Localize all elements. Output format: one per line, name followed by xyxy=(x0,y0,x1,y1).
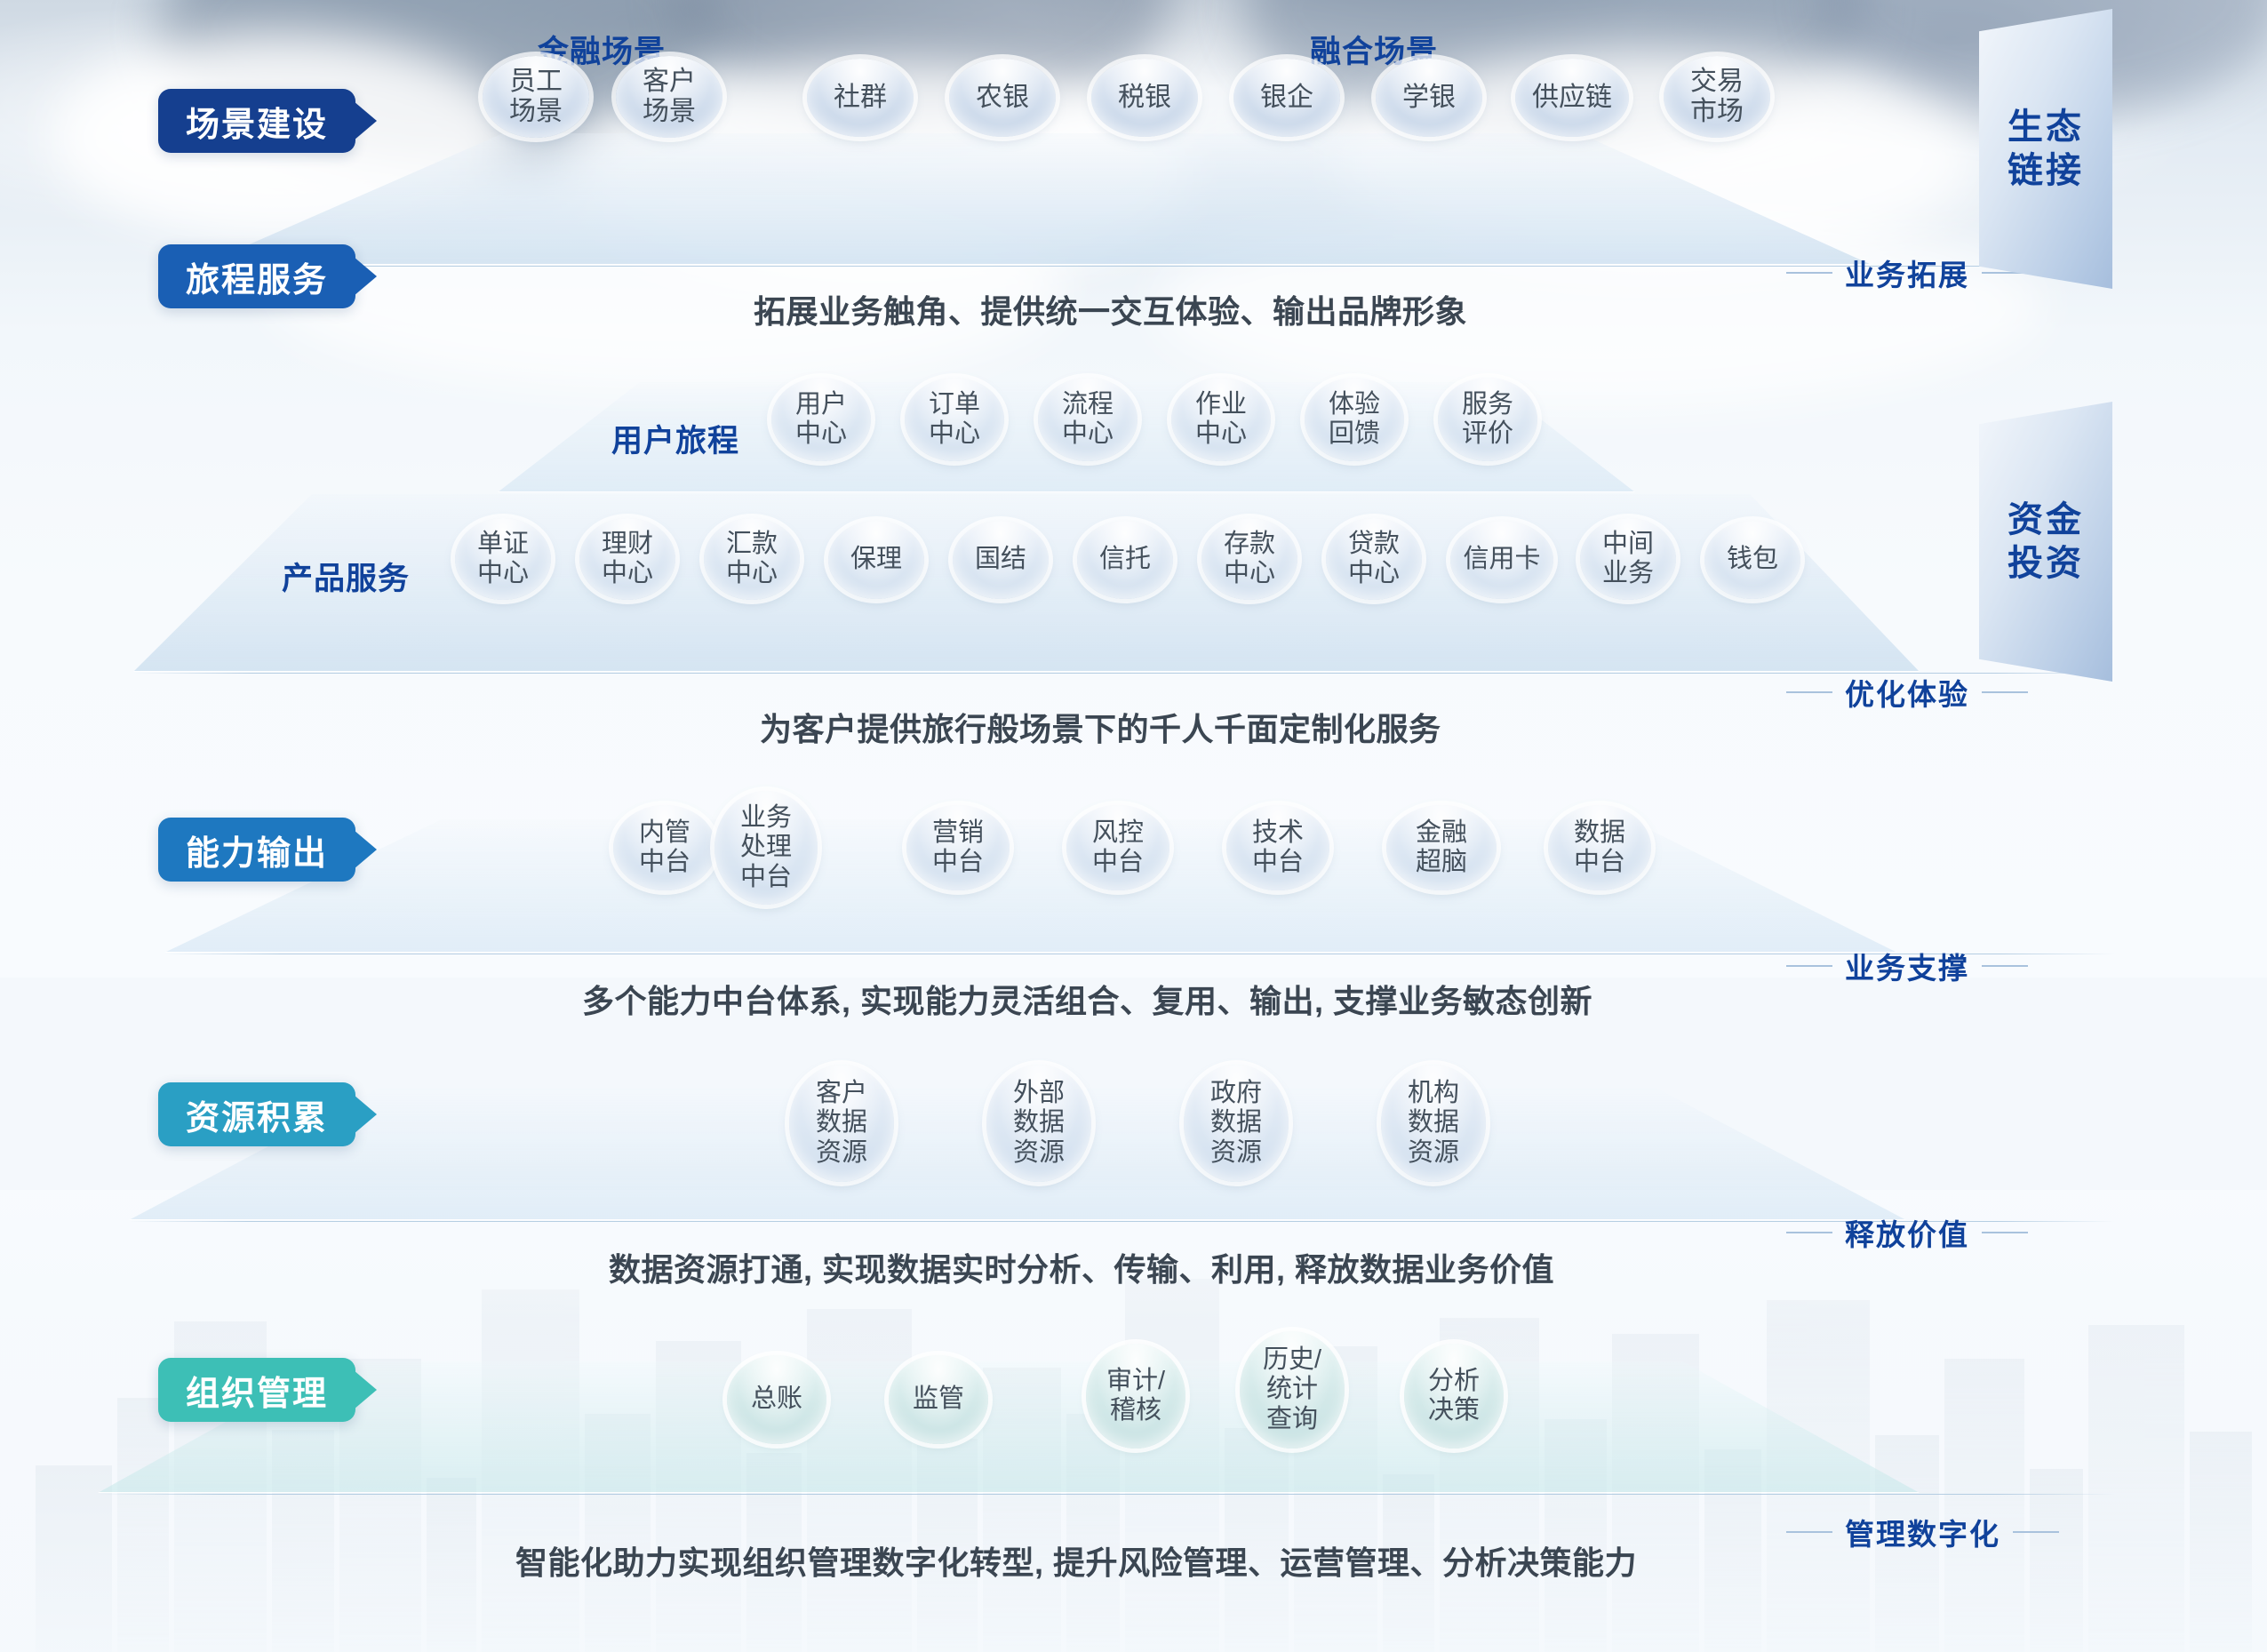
node-line: 资源 xyxy=(1210,1138,1262,1168)
node-line: 数据 xyxy=(1574,818,1625,848)
stage-pill-resource[interactable]: 资源积累 xyxy=(158,1082,355,1146)
node-line: 业务 xyxy=(740,803,792,833)
node-line: 场景 xyxy=(643,97,696,127)
node-line: 存款 xyxy=(1224,530,1275,559)
milestone-tick-right xyxy=(1982,965,2028,967)
group-title-user-journey: 用户旅程 xyxy=(611,416,739,461)
node-product-deposit-center[interactable]: 存款 中心 xyxy=(1201,518,1297,600)
node-product-trust[interactable]: 信托 xyxy=(1077,521,1173,599)
node-org-history-statistics-query[interactable]: 历史/ 统计 查询 xyxy=(1240,1331,1345,1448)
node-product-wealth-center[interactable]: 理财 中心 xyxy=(579,518,675,600)
node-product-wallet[interactable]: 钱包 xyxy=(1704,521,1800,599)
node-line: 钱包 xyxy=(1727,545,1778,574)
node-line: 市场 xyxy=(1690,97,1744,127)
milestone-tick-left xyxy=(1786,272,1832,274)
node-line: 中心 xyxy=(929,419,980,449)
node-line: 政府 xyxy=(1210,1079,1262,1108)
node-line: 外部 xyxy=(1013,1079,1065,1108)
milestone-management-digitalization: 管理数字化 xyxy=(1786,1511,2059,1553)
caption-organization: 智能化助力实现组织管理数字化转型, 提升风险管理、运营管理、分析决策能力 xyxy=(515,1537,1637,1584)
node-line: 技术 xyxy=(1252,818,1304,848)
node-line: 中间 xyxy=(1602,530,1654,559)
node-scene-customer[interactable]: 客户 场景 xyxy=(616,56,722,138)
node-scene-community[interactable]: 社群 xyxy=(807,59,914,137)
node-line: 决策 xyxy=(1428,1396,1480,1425)
node-line: 总账 xyxy=(751,1385,802,1414)
group-title-product-services: 产品服务 xyxy=(282,554,410,599)
node-org-audit[interactable]: 审计/ 稽核 xyxy=(1086,1344,1185,1448)
node-capability-business-processing[interactable]: 业务 处理 中台 xyxy=(714,791,818,905)
node-line: 业务 xyxy=(1602,559,1654,588)
stage-pill-organization-arrow xyxy=(354,1370,377,1409)
node-line: 数据 xyxy=(1013,1108,1065,1137)
milestone-tick-left xyxy=(1786,1232,1832,1233)
stage-pill-journey[interactable]: 旅程服务 xyxy=(158,244,355,308)
node-product-intermediary-business[interactable]: 中间 业务 xyxy=(1580,518,1676,600)
node-line: 资源 xyxy=(1013,1138,1065,1168)
node-line: 信托 xyxy=(1099,545,1151,574)
milestone-release-value: 释放价值 xyxy=(1786,1211,2028,1254)
caption-scene: 拓展业务触角、提供统一交互体验、输出品牌形象 xyxy=(754,286,1467,332)
milestone-tick-left xyxy=(1786,965,1832,967)
caption-resource: 数据资源打通, 实现数据实时分析、传输、利用, 释放数据业务价值 xyxy=(609,1244,1554,1290)
node-line: 中心 xyxy=(602,559,653,588)
node-line: 回馈 xyxy=(1329,419,1380,449)
node-line: 数据 xyxy=(1408,1108,1459,1137)
node-capability-internal-mgmt[interactable]: 内管 中台 xyxy=(613,805,716,890)
stage-pill-scene-label: 场景建设 xyxy=(186,97,328,146)
node-line: 税银 xyxy=(1118,83,1171,113)
stage-pill-capability-arrow xyxy=(354,830,377,869)
node-line: 中心 xyxy=(1062,419,1114,449)
ribbon-ecology-link: 生态 链接 xyxy=(1979,9,2112,289)
node-line: 机构 xyxy=(1408,1079,1459,1108)
ribbon-funding-text: 资金 投资 xyxy=(1979,402,2112,682)
node-line: 供应链 xyxy=(1532,83,1612,113)
stage-pill-organization-label: 组织管理 xyxy=(186,1366,328,1415)
stage-pill-journey-arrow xyxy=(354,257,377,296)
node-line: 资源 xyxy=(816,1138,867,1168)
node-line: 中心 xyxy=(795,419,847,449)
node-line: 营销 xyxy=(932,818,984,848)
ribbon-line: 投资 xyxy=(2008,542,2084,586)
node-line: 员工 xyxy=(509,67,563,97)
node-line: 中台 xyxy=(639,848,690,877)
stage-pill-journey-label: 旅程服务 xyxy=(186,252,328,301)
node-org-general-ledger[interactable]: 总账 xyxy=(727,1355,826,1444)
node-line: 场景 xyxy=(509,97,563,127)
ribbon-line: 资金 xyxy=(2008,499,2084,542)
node-line: 中心 xyxy=(726,559,778,588)
node-line: 金融 xyxy=(1416,818,1467,848)
ribbon-funding-investment: 资金 投资 xyxy=(1979,402,2112,682)
node-resource-external-data[interactable]: 外部 数据 资源 xyxy=(986,1065,1091,1182)
milestone-tick-right xyxy=(2013,1531,2059,1533)
node-scene-supply-chain[interactable]: 供应链 xyxy=(1515,59,1629,137)
node-scene-employee[interactable]: 员工 场景 xyxy=(483,56,589,138)
stage-pill-scene-arrow xyxy=(354,101,377,140)
architecture-diagram: 场景建设 金融场景 融合场景 员工 场景 客户 场景 社群 农银 税银 银企 学… xyxy=(0,0,2267,1652)
stage-pill-resource-arrow xyxy=(354,1095,377,1134)
node-product-credit-card[interactable]: 信用卡 xyxy=(1450,521,1553,599)
node-journey-operation-center[interactable]: 作业 中心 xyxy=(1171,378,1271,461)
node-line: 信用卡 xyxy=(1463,545,1540,574)
node-line: 中心 xyxy=(1224,559,1275,588)
stage-pill-scene[interactable]: 场景建设 xyxy=(158,89,355,153)
stage-pill-resource-label: 资源积累 xyxy=(186,1090,328,1139)
node-line: 客户 xyxy=(643,67,696,97)
node-line: 超脑 xyxy=(1416,848,1467,877)
milestone-optimize-experience-label: 优化体验 xyxy=(1845,671,1969,714)
node-journey-process-center[interactable]: 流程 中心 xyxy=(1038,378,1137,461)
node-product-loan-center[interactable]: 贷款 中心 xyxy=(1326,518,1422,600)
milestone-tick-left xyxy=(1786,1531,1832,1533)
node-line: 中心 xyxy=(477,559,529,588)
milestone-tick-right xyxy=(1982,1232,2028,1233)
milestone-management-digitalization-label: 管理数字化 xyxy=(1845,1511,2000,1553)
node-line: 数据 xyxy=(816,1108,867,1137)
milestone-business-support: 业务支撑 xyxy=(1786,945,2028,987)
node-capability-data[interactable]: 数据 中台 xyxy=(1548,805,1651,890)
node-line: 作业 xyxy=(1195,390,1247,419)
node-line: 中心 xyxy=(1348,559,1400,588)
node-line: 体验 xyxy=(1329,390,1380,419)
node-line: 数据 xyxy=(1210,1108,1262,1137)
layer-organization-baseline xyxy=(98,1494,2115,1495)
stage-pill-organization[interactable]: 组织管理 xyxy=(158,1358,355,1422)
node-line: 评价 xyxy=(1462,419,1513,449)
node-scene-tax-bank[interactable]: 税银 xyxy=(1091,59,1198,137)
node-line: 订单 xyxy=(929,390,980,419)
node-capability-technology[interactable]: 技术 中台 xyxy=(1226,805,1329,890)
node-product-factoring[interactable]: 保理 xyxy=(828,521,924,599)
node-line: 农银 xyxy=(976,83,1029,113)
node-line: 监管 xyxy=(913,1385,964,1414)
node-line: 中台 xyxy=(740,863,792,892)
node-scene-school-bank[interactable]: 学银 xyxy=(1376,59,1482,137)
node-line: 资源 xyxy=(1408,1138,1459,1168)
milestone-tick-right xyxy=(1982,691,2028,693)
node-line: 风控 xyxy=(1092,818,1144,848)
node-line: 汇款 xyxy=(726,530,778,559)
node-journey-user-center[interactable]: 用户 中心 xyxy=(771,378,871,461)
caption-capability: 多个能力中台体系, 实现能力灵活组合、复用、输出, 支撑业务敏态创新 xyxy=(582,976,1592,1022)
stage-pill-capability[interactable]: 能力输出 xyxy=(158,818,355,882)
node-org-supervision[interactable]: 监管 xyxy=(889,1355,988,1444)
node-product-document-center[interactable]: 单证 中心 xyxy=(455,518,551,600)
node-line: 服务 xyxy=(1462,390,1513,419)
node-line: 社群 xyxy=(834,83,887,113)
node-line: 查询 xyxy=(1266,1405,1318,1434)
node-resource-institution-data[interactable]: 机构 数据 资源 xyxy=(1381,1065,1486,1182)
node-resource-government-data[interactable]: 政府 数据 资源 xyxy=(1184,1065,1289,1182)
node-journey-order-center[interactable]: 订单 中心 xyxy=(905,378,1004,461)
node-capability-financial-brain[interactable]: 金融 超脑 xyxy=(1386,805,1497,890)
node-line: 国结 xyxy=(975,545,1026,574)
node-line: 理财 xyxy=(602,530,653,559)
milestone-tick-left xyxy=(1786,691,1832,693)
ribbon-ecology-text: 生态 链接 xyxy=(1979,9,2112,289)
node-line: 中台 xyxy=(932,848,984,877)
node-line: 用户 xyxy=(795,390,847,419)
node-line: 银企 xyxy=(1260,83,1313,113)
milestone-release-value-label: 释放价值 xyxy=(1845,1211,1969,1254)
node-line: 流程 xyxy=(1062,390,1114,419)
milestone-business-support-label: 业务支撑 xyxy=(1845,945,1969,987)
node-line: 单证 xyxy=(477,530,529,559)
node-line: 中心 xyxy=(1195,419,1247,449)
ribbon-line: 生态 xyxy=(2008,106,2084,149)
node-journey-experience-feedback[interactable]: 体验 回馈 xyxy=(1305,378,1404,461)
node-journey-service-rating[interactable]: 服务 评价 xyxy=(1438,378,1537,461)
node-capability-marketing[interactable]: 营销 中台 xyxy=(906,805,1010,890)
node-line: 审计/ xyxy=(1106,1367,1165,1396)
node-line: 客户 xyxy=(816,1079,867,1108)
node-resource-customer-data[interactable]: 客户 数据 资源 xyxy=(789,1065,894,1182)
ribbon-line: 链接 xyxy=(2008,149,2084,193)
node-line: 历史/ xyxy=(1263,1345,1321,1375)
node-line: 内管 xyxy=(639,818,690,848)
node-product-international-settlement[interactable]: 国结 xyxy=(953,521,1049,599)
node-line: 中台 xyxy=(1252,848,1304,877)
node-line: 处理 xyxy=(740,833,792,862)
node-line: 稽核 xyxy=(1110,1396,1161,1425)
node-scene-agri-bank[interactable]: 农银 xyxy=(949,59,1056,137)
node-scene-trading-market[interactable]: 交易 市场 xyxy=(1664,56,1770,138)
node-line: 中台 xyxy=(1574,848,1625,877)
node-org-analysis-decision[interactable]: 分析 决策 xyxy=(1404,1344,1504,1448)
stage-pill-capability-label: 能力输出 xyxy=(186,826,328,874)
node-capability-risk-control[interactable]: 风控 中台 xyxy=(1066,805,1169,890)
layer-scene-band xyxy=(203,133,1872,265)
node-line: 分析 xyxy=(1428,1367,1480,1396)
node-line: 贷款 xyxy=(1348,530,1400,559)
milestone-business-expansion-label: 业务拓展 xyxy=(1845,251,1969,294)
node-line: 统计 xyxy=(1266,1375,1318,1404)
node-line: 交易 xyxy=(1690,67,1744,97)
node-line: 学银 xyxy=(1402,83,1456,113)
node-line: 中台 xyxy=(1092,848,1144,877)
caption-journey: 为客户提供旅行般场景下的千人千面定制化服务 xyxy=(760,704,1441,750)
node-line: 保理 xyxy=(850,545,902,574)
node-scene-bank-enterprise[interactable]: 银企 xyxy=(1233,59,1340,137)
node-product-remittance-center[interactable]: 汇款 中心 xyxy=(704,518,800,600)
